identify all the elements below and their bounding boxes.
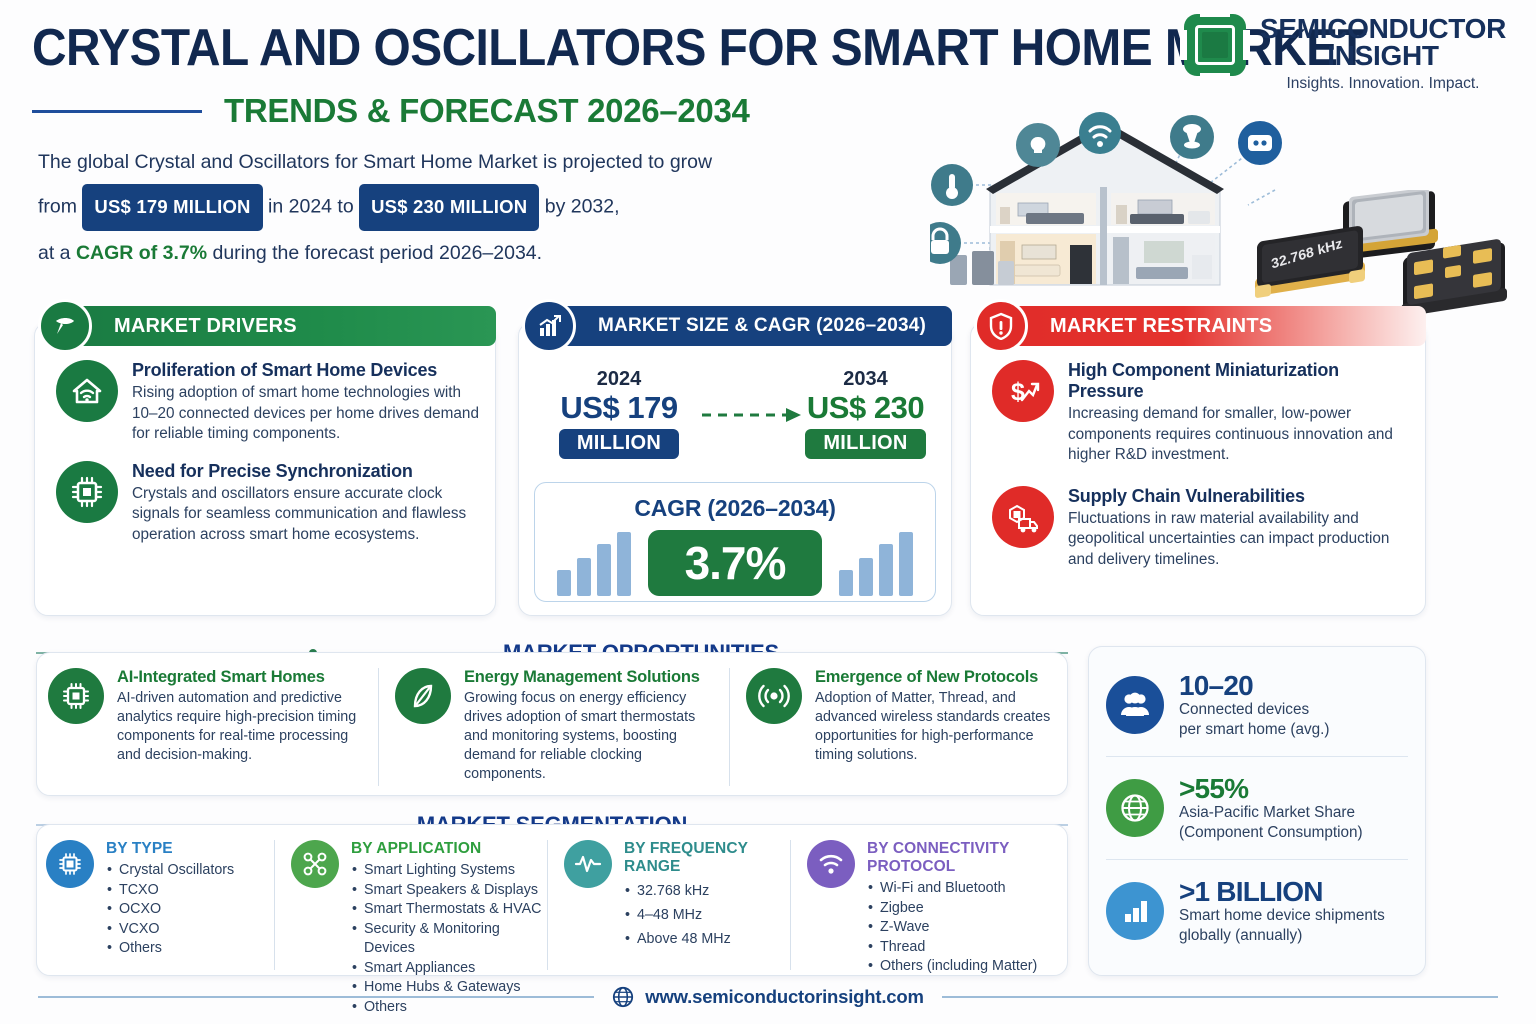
segment-list: 32.768 kHz 4–48 MHz Above 48 MHz xyxy=(624,879,790,951)
intro-from: from xyxy=(38,196,77,218)
smart-home-illustration xyxy=(930,95,1290,300)
opportunity-item: AI-Integrated Smart Homes AI-driven auto… xyxy=(48,668,378,786)
opportunity-item: Emergence of New Protocols Adoption of M… xyxy=(730,668,1060,786)
segment-list: Crystal Oscillators TCXO OCXO VCXO Other… xyxy=(106,861,234,959)
segment-list-item: OCXO xyxy=(106,900,234,920)
nodes-icon xyxy=(291,840,339,888)
opportunities-row: AI-Integrated Smart Homes AI-driven auto… xyxy=(48,668,1060,786)
end-value: US$ 230 xyxy=(788,391,943,425)
market-drivers-title: MARKET DRIVERS xyxy=(114,315,297,338)
logo-line-2: INSIGHT xyxy=(1260,42,1506,71)
driver-desc: Crystals and oscillators ensure accurate… xyxy=(132,484,486,546)
value-pill-2032: US$ 230 MILLION xyxy=(359,184,539,231)
segment-list-item: Smart Appliances xyxy=(351,959,547,979)
intro-tail: during the forecast period 2026–2034. xyxy=(212,242,542,264)
start-value: US$ 179 xyxy=(534,391,704,425)
intro-at: at a xyxy=(38,242,71,264)
opportunity-title: AI-Integrated Smart Homes xyxy=(117,668,362,687)
signal-broadcast-icon xyxy=(746,668,802,724)
market-drivers-header: MARKET DRIVERS xyxy=(48,306,496,346)
kpi-divider xyxy=(1106,756,1408,757)
supply-truck-icon xyxy=(992,486,1054,548)
megaphone-icon xyxy=(38,299,92,353)
kpi-line-1: Smart home device shipments xyxy=(1179,906,1385,926)
segment-list-item: Smart Speakers & Displays xyxy=(351,881,547,901)
shield-alert-icon xyxy=(974,299,1028,353)
segment-group-by-frequency: BY FREQUENCY RANGE 32.768 kHz 4–48 MHz A… xyxy=(548,840,790,970)
market-size-header: MARKET SIZE & CAGR (2026–2034) xyxy=(532,306,952,346)
segment-group-by-application: BY APPLICATION Smart Lighting Systems Sm… xyxy=(275,840,547,970)
cagr-label: CAGR (2026–2034) xyxy=(535,495,935,522)
segment-title: BY APPLICATION xyxy=(351,840,547,858)
subtitle-row: TRENDS & FORECAST 2026–2034 xyxy=(32,92,1082,130)
opportunity-title: Energy Management Solutions xyxy=(464,668,713,687)
kpi-item: >1 BILLION Smart home device shipments g… xyxy=(1106,868,1408,954)
segmentation-row: BY TYPE Crystal Oscillators TCXO OCXO VC… xyxy=(46,840,1058,970)
kpi-item: 10–20 Connected devices per smart home (… xyxy=(1106,662,1408,748)
end-unit: MILLION xyxy=(805,429,925,459)
kpi-value: >1 BILLION xyxy=(1179,877,1385,906)
decorative-bars-left xyxy=(557,532,631,596)
opportunity-desc: AI-driven automation and predictive anal… xyxy=(117,689,362,765)
bar-chart-icon xyxy=(1106,882,1164,940)
opportunity-desc: Growing focus on energy efficiency drive… xyxy=(464,689,713,784)
restraints-items: $ High Component Miniaturization Pressur… xyxy=(992,360,1416,570)
driver-title: Need for Precise Synchronization xyxy=(132,461,486,482)
start-year: 2024 xyxy=(534,368,704,391)
segment-list-item: Thread xyxy=(867,938,1053,958)
segment-list-item: TCXO xyxy=(106,881,234,901)
subtitle-rule-left xyxy=(32,110,202,113)
segment-list-item: Wi-Fi and Bluetooth xyxy=(867,879,1053,899)
smart-home-wifi-icon xyxy=(56,360,118,422)
driver-title: Proliferation of Smart Home Devices xyxy=(132,360,486,381)
opportunity-title: Emergence of New Protocols xyxy=(815,668,1060,687)
segment-title: BY FREQUENCY RANGE xyxy=(624,840,790,876)
intro-cagr: CAGR of 3.7% xyxy=(76,242,207,264)
driver-item: Proliferation of Smart Home Devices Risi… xyxy=(56,360,486,445)
dollar-rising-icon: $ xyxy=(992,360,1054,422)
segment-title: BY TYPE xyxy=(106,840,234,858)
segment-list-item: Others (including Matter) xyxy=(867,957,1053,977)
driver-item: Need for Precise Synchronization Crystal… xyxy=(56,461,486,546)
segment-list-item: 4–48 MHz xyxy=(624,903,790,927)
market-size-start: 2024 US$ 179 MILLION xyxy=(534,368,704,459)
intro-line-1: The global Crystal and Oscillators for S… xyxy=(38,151,712,173)
restraint-desc: Increasing demand for smaller, low-power… xyxy=(1068,404,1416,466)
smart-home-svg xyxy=(930,95,1290,300)
kpi-list: 10–20 Connected devices per smart home (… xyxy=(1106,662,1408,954)
segment-group-by-type: BY TYPE Crystal Oscillators TCXO OCXO VC… xyxy=(46,840,274,970)
restraint-item: $ High Component Miniaturization Pressur… xyxy=(992,360,1416,466)
opportunity-desc: Adoption of Matter, Thread, and advanced… xyxy=(815,689,1060,765)
segment-list-item: Above 48 MHz xyxy=(624,927,790,951)
intro-paragraph: The global Crystal and Oscillators for S… xyxy=(38,142,798,273)
opportunity-item: Energy Management Solutions Growing focu… xyxy=(379,668,729,786)
kpi-line-2: per smart home (avg.) xyxy=(1179,720,1329,740)
segment-list-item: VCXO xyxy=(106,920,234,940)
market-restraints-title: MARKET RESTRAINTS xyxy=(1050,315,1272,338)
intro-by: by 2032, xyxy=(545,196,620,218)
segment-list: Wi-Fi and Bluetooth Zigbee Z-Wave Thread… xyxy=(867,879,1053,977)
restraint-title: High Component Miniaturization Pressure xyxy=(1068,360,1416,402)
globe-icon xyxy=(612,986,634,1008)
market-size-title: MARKET SIZE & CAGR (2026–2034) xyxy=(598,315,926,337)
segment-title: BY CONNECTIVITY PROTOCOL xyxy=(867,840,1053,876)
segment-list-item: Zigbee xyxy=(867,899,1053,919)
page-title: CRYSTAL AND OSCILLATORS FOR SMART HOME M… xyxy=(32,22,1053,74)
drivers-items: Proliferation of Smart Home Devices Risi… xyxy=(56,360,486,545)
segment-group-by-connectivity: BY CONNECTIVITY PROTOCOL Wi-Fi and Bluet… xyxy=(791,840,1053,970)
start-unit: MILLION xyxy=(559,429,679,459)
kpi-value: >55% xyxy=(1179,774,1363,803)
kpi-line-2: globally (annually) xyxy=(1179,926,1385,946)
globe-icon xyxy=(1106,779,1164,837)
segment-list-item: 32.768 kHz xyxy=(624,879,790,903)
kpi-line-1: Asia-Pacific Market Share xyxy=(1179,803,1363,823)
driver-desc: Rising adoption of smart home technologi… xyxy=(132,383,486,445)
segment-list-item: Security & Monitoring Devices xyxy=(351,920,547,959)
logo-tagline: Insights. Innovation. Impact. xyxy=(1260,75,1506,93)
kpi-value: 10–20 xyxy=(1179,671,1329,700)
restraint-desc: Fluctuations in raw material availabilit… xyxy=(1068,509,1416,571)
market-size-end: 2034 US$ 230 MILLION xyxy=(788,368,943,459)
chip-icon xyxy=(46,840,94,888)
kpi-line-1: Connected devices xyxy=(1179,700,1329,720)
segment-list-item: Smart Thermostats & HVAC xyxy=(351,900,547,920)
infographic-page: CRYSTAL AND OSCILLATORS FOR SMART HOME M… xyxy=(0,0,1536,1024)
kpi-line-2: (Component Consumption) xyxy=(1179,823,1363,843)
kpi-item: >55% Asia-Pacific Market Share (Componen… xyxy=(1106,765,1408,851)
brand-logo: SEMICONDUCTOR INSIGHT Insights. Innovati… xyxy=(1184,14,1506,93)
footer: www.semiconductorinsight.com xyxy=(38,986,1498,1008)
footer-rule-right xyxy=(942,996,1498,998)
segment-list-item: Smart Lighting Systems xyxy=(351,861,547,881)
segment-list-item: Z-Wave xyxy=(867,918,1053,938)
kpi-divider xyxy=(1106,859,1408,860)
bar-chart-growth-icon xyxy=(522,299,576,353)
leaf-icon xyxy=(395,668,451,724)
restraint-item: Supply Chain Vulnerabilities Fluctuation… xyxy=(992,486,1416,571)
footer-center: www.semiconductorinsight.com xyxy=(594,986,941,1008)
segment-list-item: Others xyxy=(106,939,234,959)
svg-text:$: $ xyxy=(1011,378,1025,406)
segment-list-item: Crystal Oscillators xyxy=(106,861,234,881)
waveform-icon xyxy=(564,840,612,888)
microchip-icon xyxy=(56,461,118,523)
chip-logo-icon xyxy=(1184,14,1246,76)
cpu-icon xyxy=(48,668,104,724)
cagr-box: CAGR (2026–2034) 3.7% xyxy=(534,482,936,602)
page-subtitle: TRENDS & FORECAST 2026–2034 xyxy=(224,92,750,130)
intro-mid: in 2024 to xyxy=(268,196,354,218)
decorative-bars-right xyxy=(839,532,913,596)
wifi-icon xyxy=(807,840,855,888)
footer-website-link[interactable]: www.semiconductorinsight.com xyxy=(645,986,923,1008)
footer-rule-left xyxy=(38,996,594,998)
restraint-title: Supply Chain Vulnerabilities xyxy=(1068,486,1416,507)
logo-line-1: SEMICONDUCTOR xyxy=(1260,15,1506,42)
cagr-value: 3.7% xyxy=(648,530,822,596)
end-year: 2034 xyxy=(788,368,943,391)
value-pill-2024: US$ 179 MILLION xyxy=(82,184,262,231)
users-group-icon xyxy=(1106,676,1164,734)
market-restraints-header: MARKET RESTRAINTS xyxy=(984,306,1426,346)
